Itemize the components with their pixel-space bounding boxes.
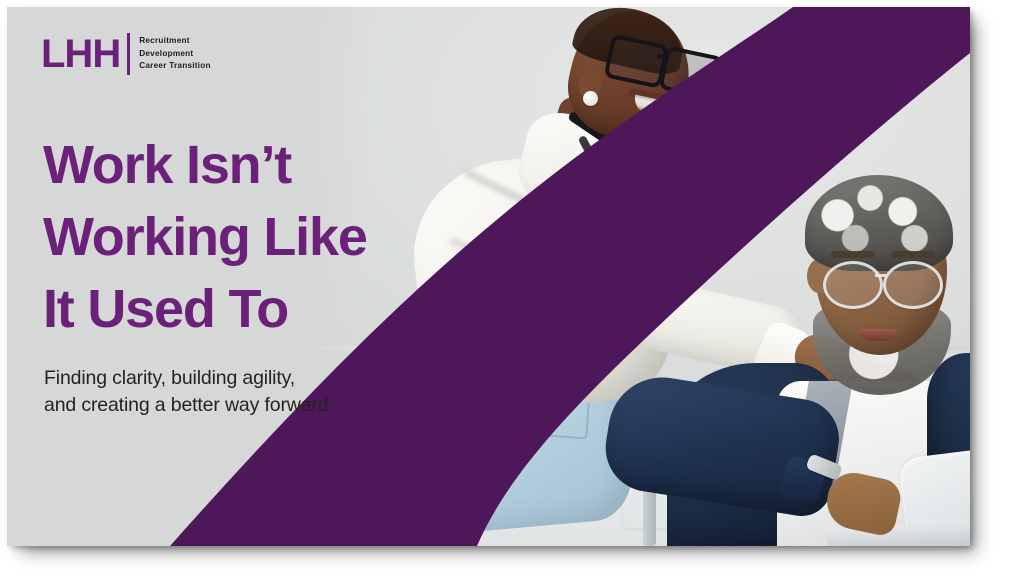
slide-headline: Work Isn’t Working Like It Used To — [43, 129, 463, 345]
slide-subtitle: Finding clarity, building agility, and c… — [44, 365, 444, 419]
subtitle-line: Finding clarity, building agility, — [44, 365, 444, 392]
logo-tagline: Recruitment Development Career Transitio… — [139, 35, 211, 74]
headline-line: It Used To — [43, 273, 463, 345]
lhh-logo[interactable]: LHH Recruitment Development Career Trans… — [41, 33, 211, 75]
logo-divider — [127, 33, 130, 75]
logo-tagline-line: Career Transition — [139, 60, 211, 73]
logo-tagline-line: Recruitment — [139, 35, 211, 48]
subtitle-line: and creating a better way forward — [44, 392, 444, 419]
logo-tagline-line: Development — [139, 48, 211, 61]
title-slide-card: LHH Recruitment Development Career Trans… — [7, 7, 970, 546]
lhh-wordmark: LHH — [41, 34, 120, 74]
headline-line: Work Isn’t — [43, 129, 463, 201]
headline-line: Working Like — [43, 201, 463, 273]
